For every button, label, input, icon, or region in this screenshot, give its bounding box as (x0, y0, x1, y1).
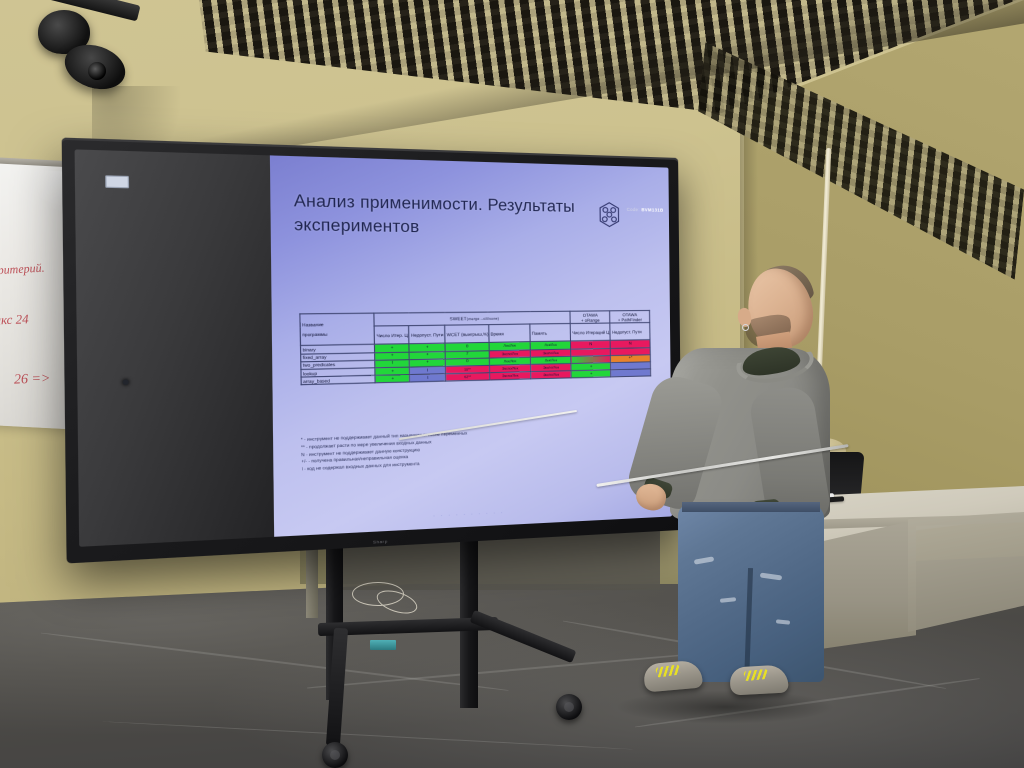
slide-title: Анализ применимости. Результаты эксперим… (294, 190, 586, 242)
presentation-slide: Анализ применимости. Результаты эксперим… (269, 155, 672, 536)
earring-icon (742, 324, 749, 331)
results-table-wrap: Название программы SWEET(merge→cif/none)… (299, 310, 651, 386)
tv-stand-power-module (370, 640, 396, 650)
header-sub-4: Память (530, 324, 571, 342)
table-row-program-name: array_based (301, 375, 375, 385)
table-cell: + (375, 344, 410, 352)
presenter-waistband (682, 502, 820, 512)
table-cell: 62** (445, 373, 489, 382)
header-sub-5: Число Итераций Циклов (570, 323, 610, 341)
display-ir-sensor-icon (123, 379, 129, 385)
presenter (630, 268, 870, 718)
display-screen[interactable]: Анализ применимости. Результаты эксперим… (75, 149, 672, 546)
header-otawa-1-sub: + oRange (572, 317, 608, 323)
table-cell: Экспо/Лек (531, 371, 572, 379)
tv-stand-caster-right (556, 694, 582, 720)
display-dark-letterbox (75, 149, 274, 546)
header-program-name: Название программы (300, 313, 375, 346)
header-sub-0: Число Итер. Циклов (374, 326, 409, 345)
header-name-line2: программы (302, 331, 373, 338)
camera-lens-icon (88, 62, 106, 80)
tv-stand-caster-left (322, 742, 348, 768)
results-table-body: binary++0Лек/ЛекЛек/ЛекNNfixed_array++7Э… (300, 340, 650, 385)
table-cell: + (409, 343, 445, 351)
interactive-display[interactable]: Анализ применимости. Результаты эксперим… (62, 138, 682, 564)
table-cell: + (375, 374, 410, 383)
table-cell: I (410, 374, 446, 383)
slide-footnotes: * - инструмент не поддерживает данный ти… (301, 424, 622, 473)
whiteboard-note-2: рикс 24 (0, 311, 29, 328)
header-group-otawa-orange: OTAWA + oRange (570, 311, 610, 324)
table-cell: + (571, 370, 611, 378)
results-table: Название программы SWEET(merge→cif/none)… (299, 310, 651, 386)
hexagon-molecule-logo-icon (597, 201, 623, 228)
code-prefix: Code: (627, 207, 640, 212)
header-name-line1: Название (302, 321, 373, 327)
header-sub-2: WCET (выигрыш,%) (444, 325, 488, 344)
lecture-room-scene: критерий. рикс 24 26 => шлюз 3 Анализ пр… (0, 0, 1024, 768)
table-cell: Экспо/Лек (489, 372, 530, 380)
header-sweet-sub: (merge→cif/none) (467, 316, 499, 321)
whiteboard-note-1: критерий. (0, 261, 45, 279)
slide-code-label: Code: BVM131B (627, 207, 664, 213)
code-value: BVM131B (641, 207, 663, 212)
slide-footer: • • • • • • • • • • (433, 510, 505, 518)
header-sub-1: Недопуст. Пути (409, 325, 445, 344)
display-sticker-label (105, 175, 129, 188)
header-sweet-label: SWEET (449, 316, 466, 321)
whiteboard-note-3: 26 => (14, 371, 51, 388)
header-sub-3: Время (488, 324, 530, 342)
